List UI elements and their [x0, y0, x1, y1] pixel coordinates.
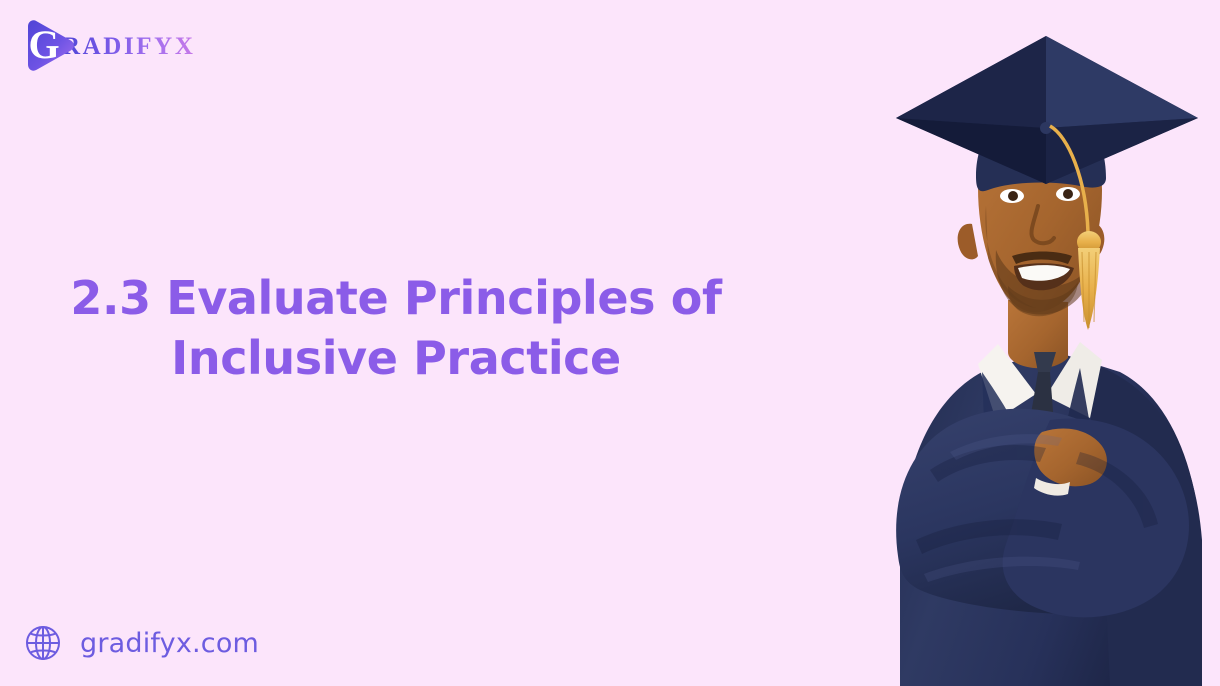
page-title-line-1: 2.3 Evaluate Principles of: [46, 268, 746, 328]
page-title: 2.3 Evaluate Principles of Inclusive Pra…: [46, 268, 746, 388]
svg-text:G: G: [28, 22, 59, 67]
brand-logo[interactable]: G RADIFYX: [18, 16, 195, 74]
graduate-photo: [750, 0, 1220, 686]
globe-icon: [22, 622, 64, 664]
logo-wordmark: RADIFYX: [62, 32, 195, 59]
logo-play-mark-icon: G: [18, 16, 80, 74]
slide-canvas: G RADIFYX 2.3 Evaluate Principles of Inc…: [0, 0, 1220, 686]
footer-website[interactable]: gradifyx.com: [22, 622, 259, 664]
page-title-line-2: Inclusive Practice: [46, 328, 746, 388]
footer-url-text: gradifyx.com: [80, 628, 259, 659]
